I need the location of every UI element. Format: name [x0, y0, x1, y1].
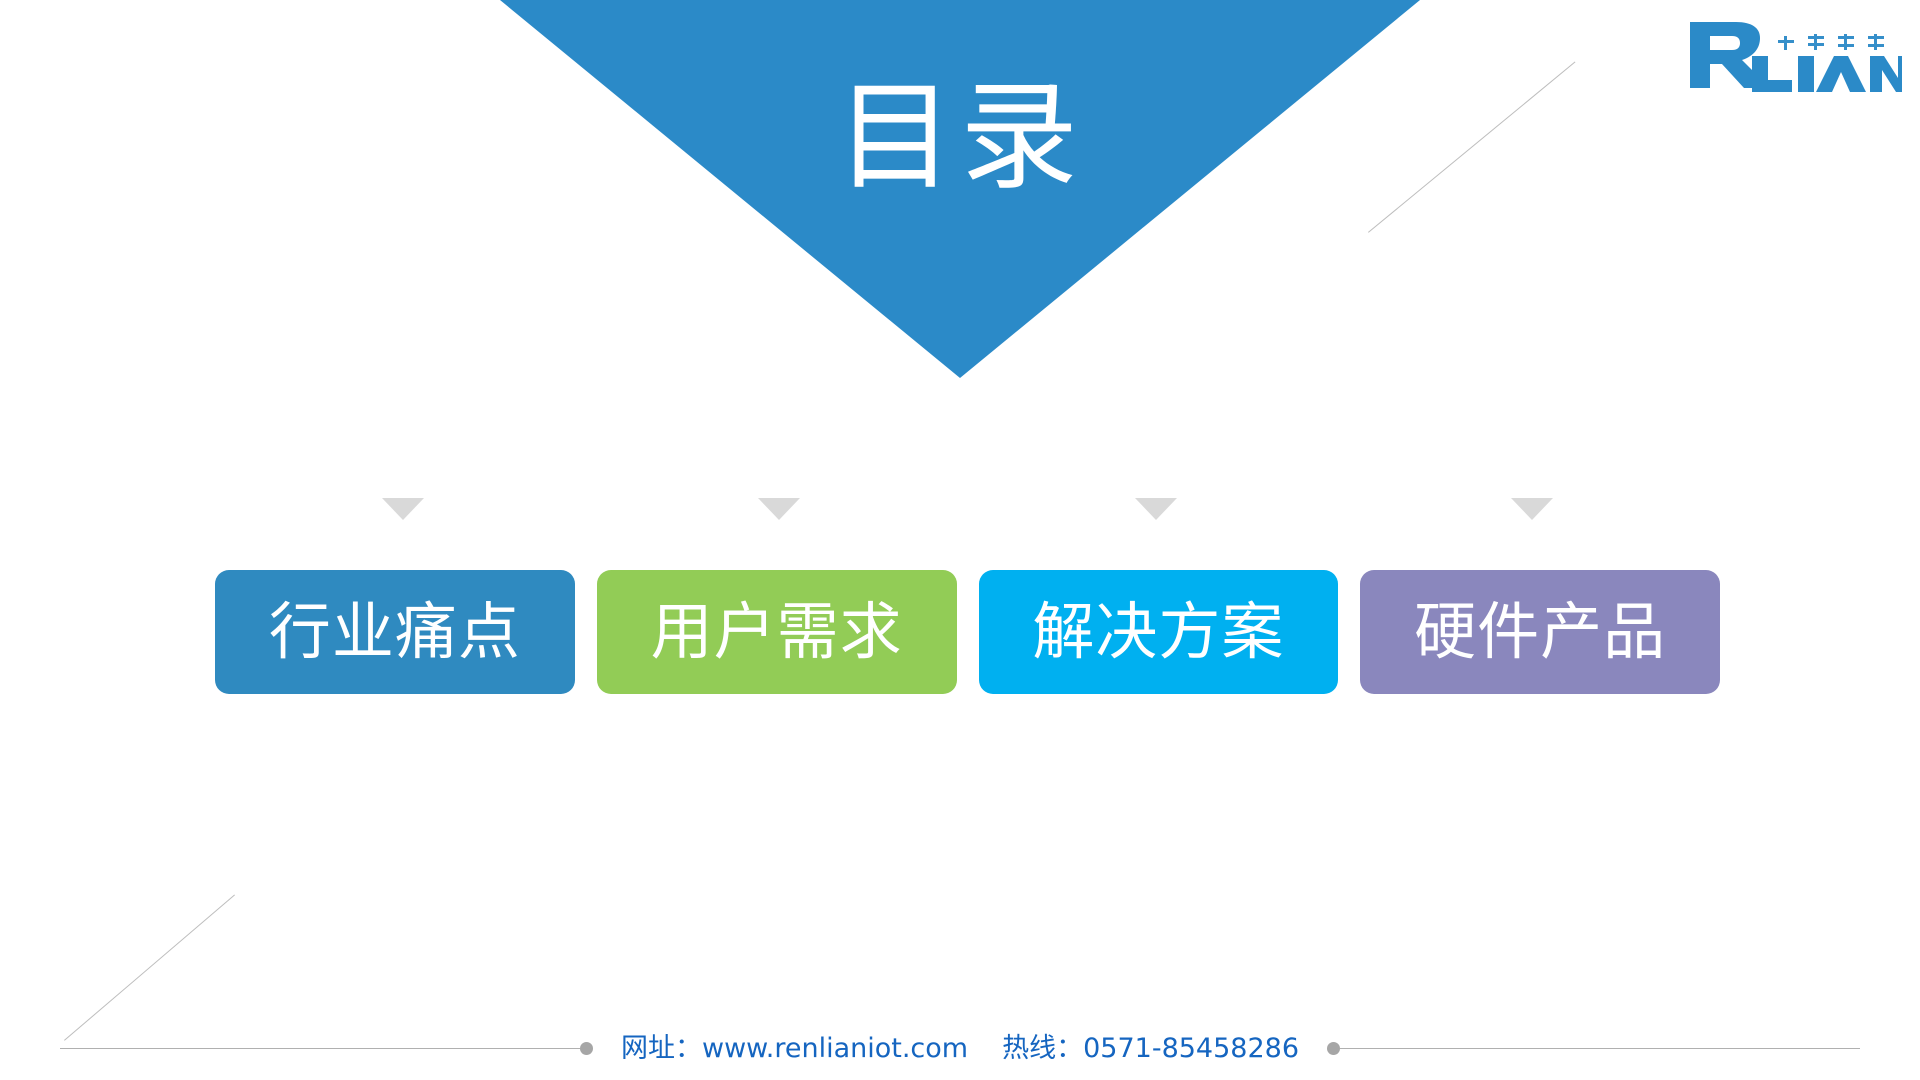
marker-cell — [1344, 498, 1720, 524]
page-title: 目录 — [0, 0, 1920, 196]
footer-hotline-value: 0571-85458286 — [1083, 1033, 1299, 1064]
footer-rule-left — [60, 1048, 580, 1049]
decorative-diagonal-line-bottom-left — [64, 895, 235, 1041]
content-chip-label: 行业痛点 — [269, 601, 521, 663]
footer-website-label: 网址： — [621, 1033, 702, 1064]
triangle-down-icon — [1511, 498, 1553, 520]
marker-cell — [215, 498, 591, 524]
content-chip-hardware-products[interactable]: 硬件产品 — [1360, 570, 1720, 694]
triangle-down-icon — [1135, 498, 1177, 520]
footer-contact-text: 网址：www.renlianiot.com热线：0571-85458286 — [593, 1035, 1327, 1062]
content-chip-label: 解决方案 — [1032, 601, 1284, 663]
slide-canvas: 目录 — [0, 0, 1920, 1080]
footer-rule-right — [1340, 1048, 1860, 1049]
footer-dot-right — [1327, 1042, 1340, 1055]
content-chip-user-requirements[interactable]: 用户需求 — [597, 570, 957, 694]
marker-cell — [591, 498, 967, 524]
content-markers-row — [215, 498, 1720, 524]
content-chip-industry-pain-points[interactable]: 行业痛点 — [215, 570, 575, 694]
company-logo: 任 联 科 技 LIAN — [1682, 12, 1902, 94]
logo-wordmark — [1752, 56, 1902, 92]
triangle-down-icon — [758, 498, 800, 520]
contents-chip-row: 行业痛点 用户需求 解决方案 硬件产品 — [215, 570, 1720, 694]
footer-dot-left — [580, 1042, 593, 1055]
content-chip-label: 用户需求 — [651, 601, 903, 663]
content-chip-label: 硬件产品 — [1414, 601, 1666, 663]
footer-hotline-label: 热线： — [1002, 1033, 1083, 1064]
footer-website-value[interactable]: www.renlianiot.com — [702, 1033, 968, 1064]
marker-cell — [968, 498, 1344, 524]
footer: 网址：www.renlianiot.com热线：0571-85458286 — [0, 1028, 1920, 1068]
triangle-down-icon — [382, 498, 424, 520]
logo-chinese-text — [1778, 34, 1884, 50]
content-chip-solution[interactable]: 解决方案 — [979, 570, 1339, 694]
